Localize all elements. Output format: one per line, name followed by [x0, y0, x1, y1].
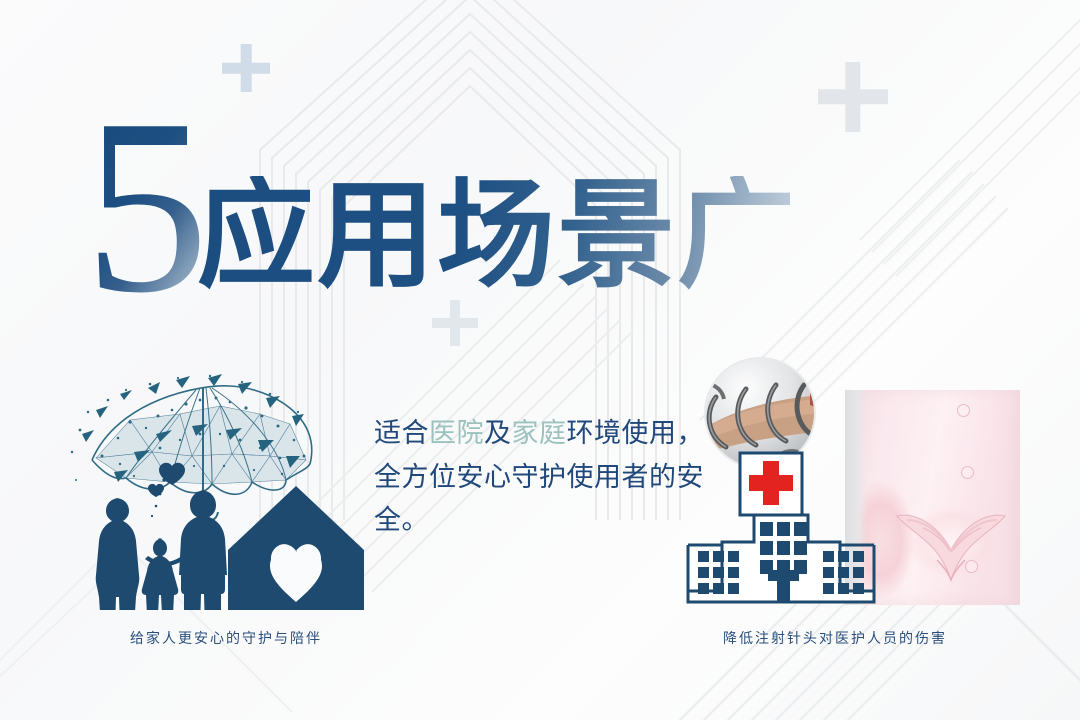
plus-decoration-center-icon [432, 300, 478, 346]
hospital-building-icon [688, 515, 874, 602]
diagonal-lines-top-right [860, 0, 1080, 276]
caption-home-scene: 给家人更安心的守护与陪伴 [130, 628, 322, 648]
body-seg-3-highlight: 家庭 [512, 418, 567, 449]
title-number: 5 [84, 99, 203, 314]
body-seg-0: 适合 [374, 418, 429, 449]
body-seg-2: 及 [484, 418, 512, 449]
body-seg-1-highlight: 医院 [429, 418, 484, 449]
illustration-home-scene [60, 360, 380, 610]
title-headline: 应用场景广 [197, 176, 797, 294]
plus-decoration-top-right-icon [818, 62, 888, 132]
family-silhouette-icon [96, 490, 227, 610]
page-title: 5 应用场景广 [84, 40, 797, 300]
slide-canvas: 5 应用场景广 适合医院及家庭环境使用，全方位安心守护使用者的安全。 [0, 0, 1080, 720]
hospital-sign [740, 453, 802, 515]
caption-hospital-scene: 降低注射针头对医护人员的伤害 [723, 628, 947, 648]
illustration-hospital-scene [660, 355, 1040, 610]
